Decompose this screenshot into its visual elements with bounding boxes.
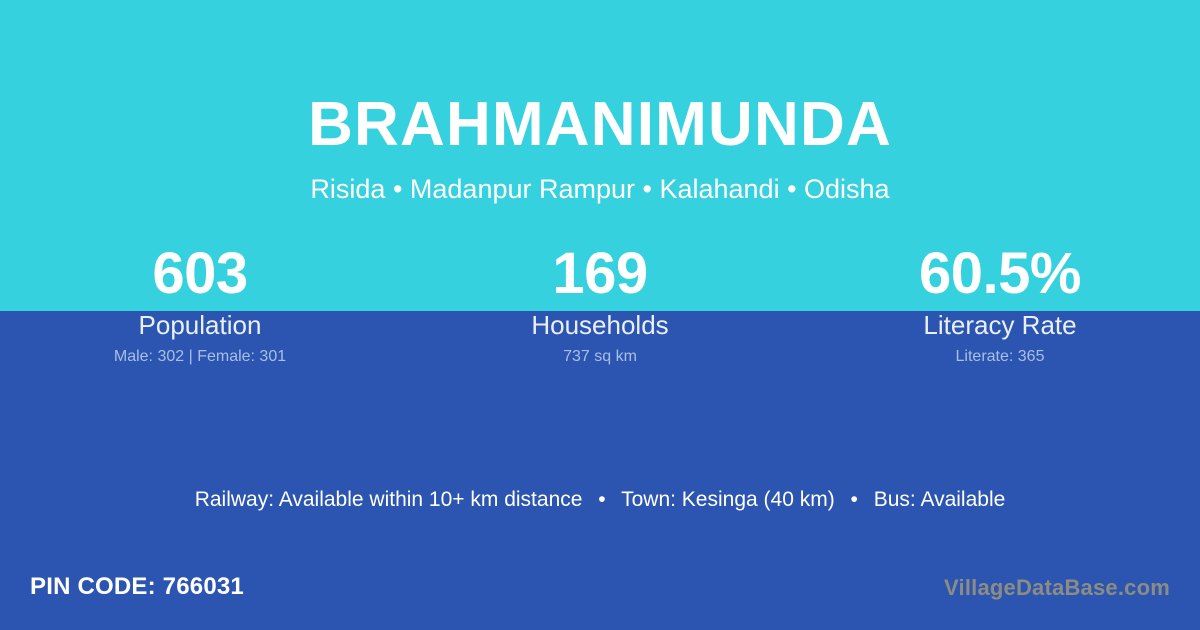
facilities-line: Railway: Available within 10+ km distanc…: [0, 486, 1200, 514]
facility-bus: Bus: Available: [874, 488, 1006, 511]
stat-population-label: Population: [0, 309, 400, 341]
village-info-card: BRAHMANIMUNDA Risida • Madanpur Rampur •…: [0, 0, 1200, 630]
pin-code-text: PIN CODE: 766031: [30, 572, 244, 602]
stat-population: 603 Population Male: 302 | Female: 301: [0, 240, 400, 367]
stat-households-label: Households: [400, 309, 800, 341]
facility-separator-icon: •: [841, 488, 868, 511]
stat-literacy-rate: 60.5% Literacy Rate Literate: 365: [800, 240, 1200, 367]
stat-households: 169 Households 737 sq km: [400, 240, 800, 367]
facility-nearest-town: Town: Kesinga (40 km): [621, 488, 835, 511]
stat-households-value: 169: [400, 240, 800, 308]
site-brand-watermark: VillageDataBase.com: [944, 574, 1170, 602]
card-footer: PIN CODE: 766031 VillageDataBase.com: [0, 560, 1200, 630]
stat-literacy-rate-label: Literacy Rate: [800, 309, 1200, 341]
card-header: BRAHMANIMUNDA Risida • Madanpur Rampur •…: [0, 0, 1200, 206]
stat-households-detail: 737 sq km: [400, 347, 800, 367]
facility-separator-icon: •: [588, 488, 615, 511]
village-location-breadcrumb: Risida • Madanpur Rampur • Kalahandi • O…: [0, 162, 1200, 206]
facility-railway: Railway: Available within 10+ km distanc…: [195, 488, 583, 511]
stat-literacy-rate-value: 60.5%: [800, 240, 1200, 308]
village-name-title: BRAHMANIMUNDA: [0, 0, 1200, 162]
stats-row: 603 Population Male: 302 | Female: 301 1…: [0, 240, 1200, 367]
stat-population-detail: Male: 302 | Female: 301: [0, 347, 400, 367]
stat-literacy-rate-detail: Literate: 365: [800, 347, 1200, 367]
stat-population-value: 603: [0, 240, 400, 308]
